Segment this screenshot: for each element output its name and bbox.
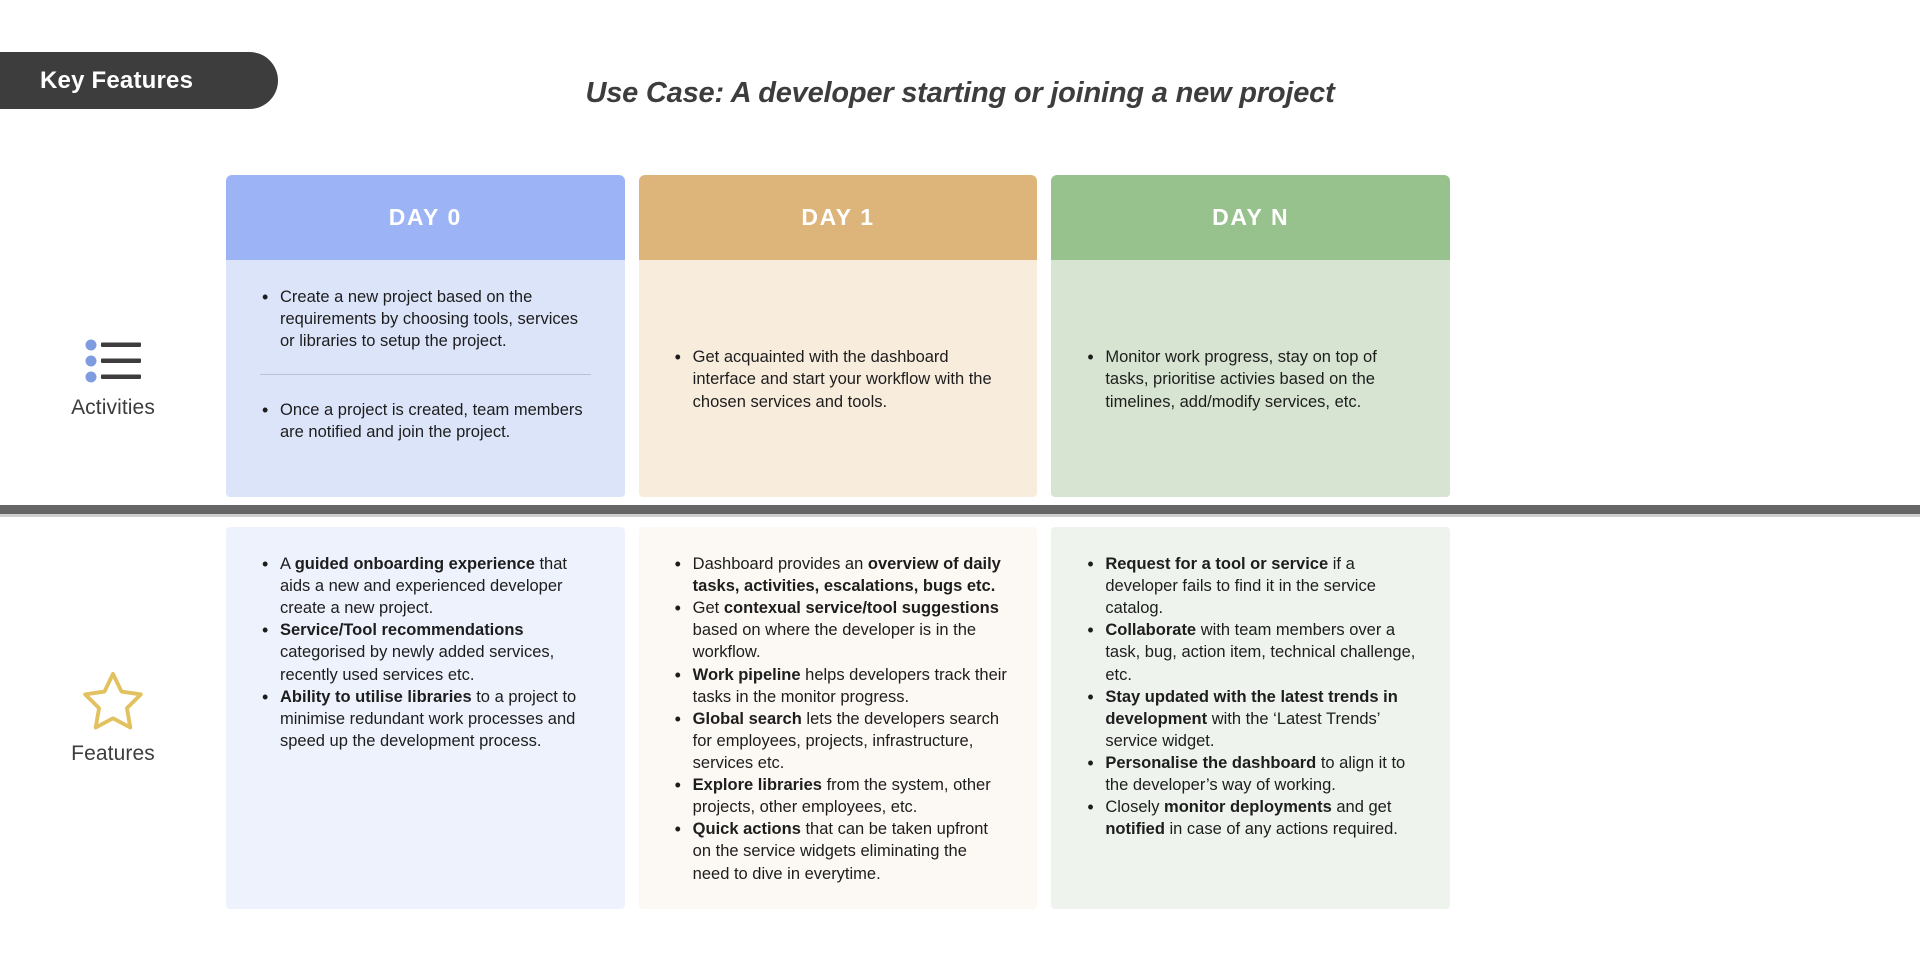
features-cell-day1: Dashboard provides an overview of daily … (639, 527, 1038, 909)
key-features-label: Key Features (40, 67, 193, 95)
rail-spacer (0, 175, 226, 260)
list-item: Get acquainted with the dashboard interf… (669, 346, 1008, 412)
activities-row: Activities Create a new project based on… (0, 260, 1920, 497)
rail-features: Features (0, 527, 226, 909)
list-item: Get contexual service/tool suggestions b… (669, 597, 1008, 663)
list-item: Closely monitor deployments and get noti… (1081, 796, 1420, 840)
list-item: Quick actions that can be taken upfront … (669, 818, 1008, 884)
activities-list-dayn: Monitor work progress, stay on top of ta… (1081, 346, 1420, 414)
list-item: Global search lets the developers search… (669, 708, 1008, 774)
activities-cell-day0: Create a new project based on the requir… (226, 260, 625, 497)
activities-list-day0-b: Once a project is created, team members … (256, 399, 595, 443)
activities-cell-dayn: Monitor work progress, stay on top of ta… (1051, 260, 1450, 497)
activities-list-day0: Create a new project based on the requir… (256, 286, 595, 352)
rail-activities: Activities (0, 260, 226, 497)
list-item: A guided onboarding experience that aids… (256, 553, 595, 619)
features-row: Features A guided onboarding experience … (0, 527, 1920, 909)
rail-label-features: Features (71, 742, 155, 766)
bulleted-list-icon (85, 338, 141, 384)
column-header-label: DAY 1 (801, 204, 874, 231)
features-list-day0: A guided onboarding experience that aids… (256, 553, 595, 752)
list-item: Stay updated with the latest trends in d… (1081, 686, 1420, 752)
features-list-dayn: Request for a tool or service if a devel… (1081, 553, 1420, 840)
list-item: Service/Tool recommendations categorised… (256, 619, 595, 685)
slide-root: Key Features Use Case: A developer start… (0, 0, 1920, 978)
column-header-dayn: DAY N (1051, 175, 1450, 260)
list-item: Create a new project based on the requir… (256, 286, 595, 352)
list-item: Monitor work progress, stay on top of ta… (1081, 346, 1420, 412)
activities-cell-day1: Get acquainted with the dashboard interf… (639, 260, 1038, 497)
matrix-grid: DAY 0 DAY 1 DAY N (0, 175, 1920, 909)
star-icon (82, 670, 144, 730)
list-item: Collaborate with team members over a tas… (1081, 619, 1420, 685)
column-header-day0: DAY 0 (226, 175, 625, 260)
column-header-label: DAY 0 (389, 204, 462, 231)
features-cell-dayn: Request for a tool or service if a devel… (1051, 527, 1450, 909)
section-divider (0, 505, 1920, 514)
list-item: Work pipeline helps developers track the… (669, 664, 1008, 708)
page-title: Use Case: A developer starting or joinin… (300, 77, 1620, 110)
rail-label-activities: Activities (71, 396, 155, 420)
key-features-badge: Key Features (0, 52, 278, 109)
list-item: Request for a tool or service if a devel… (1081, 553, 1420, 619)
section-divider-shadow (0, 514, 1920, 517)
activities-list-day1: Get acquainted with the dashboard interf… (669, 346, 1008, 414)
column-header-label: DAY N (1212, 204, 1289, 231)
features-list-day1: Dashboard provides an overview of daily … (669, 553, 1008, 885)
list-item: Explore libraries from the system, other… (669, 774, 1008, 818)
list-item: Ability to utilise libraries to a projec… (256, 686, 595, 752)
list-item: Personalise the dashboard to align it to… (1081, 752, 1420, 796)
features-cell-day0: A guided onboarding experience that aids… (226, 527, 625, 909)
column-header-row: DAY 0 DAY 1 DAY N (0, 175, 1920, 260)
column-header-day1: DAY 1 (639, 175, 1038, 260)
inner-divider (260, 374, 591, 375)
list-item: Dashboard provides an overview of daily … (669, 553, 1008, 597)
list-item: Once a project is created, team members … (256, 399, 595, 443)
